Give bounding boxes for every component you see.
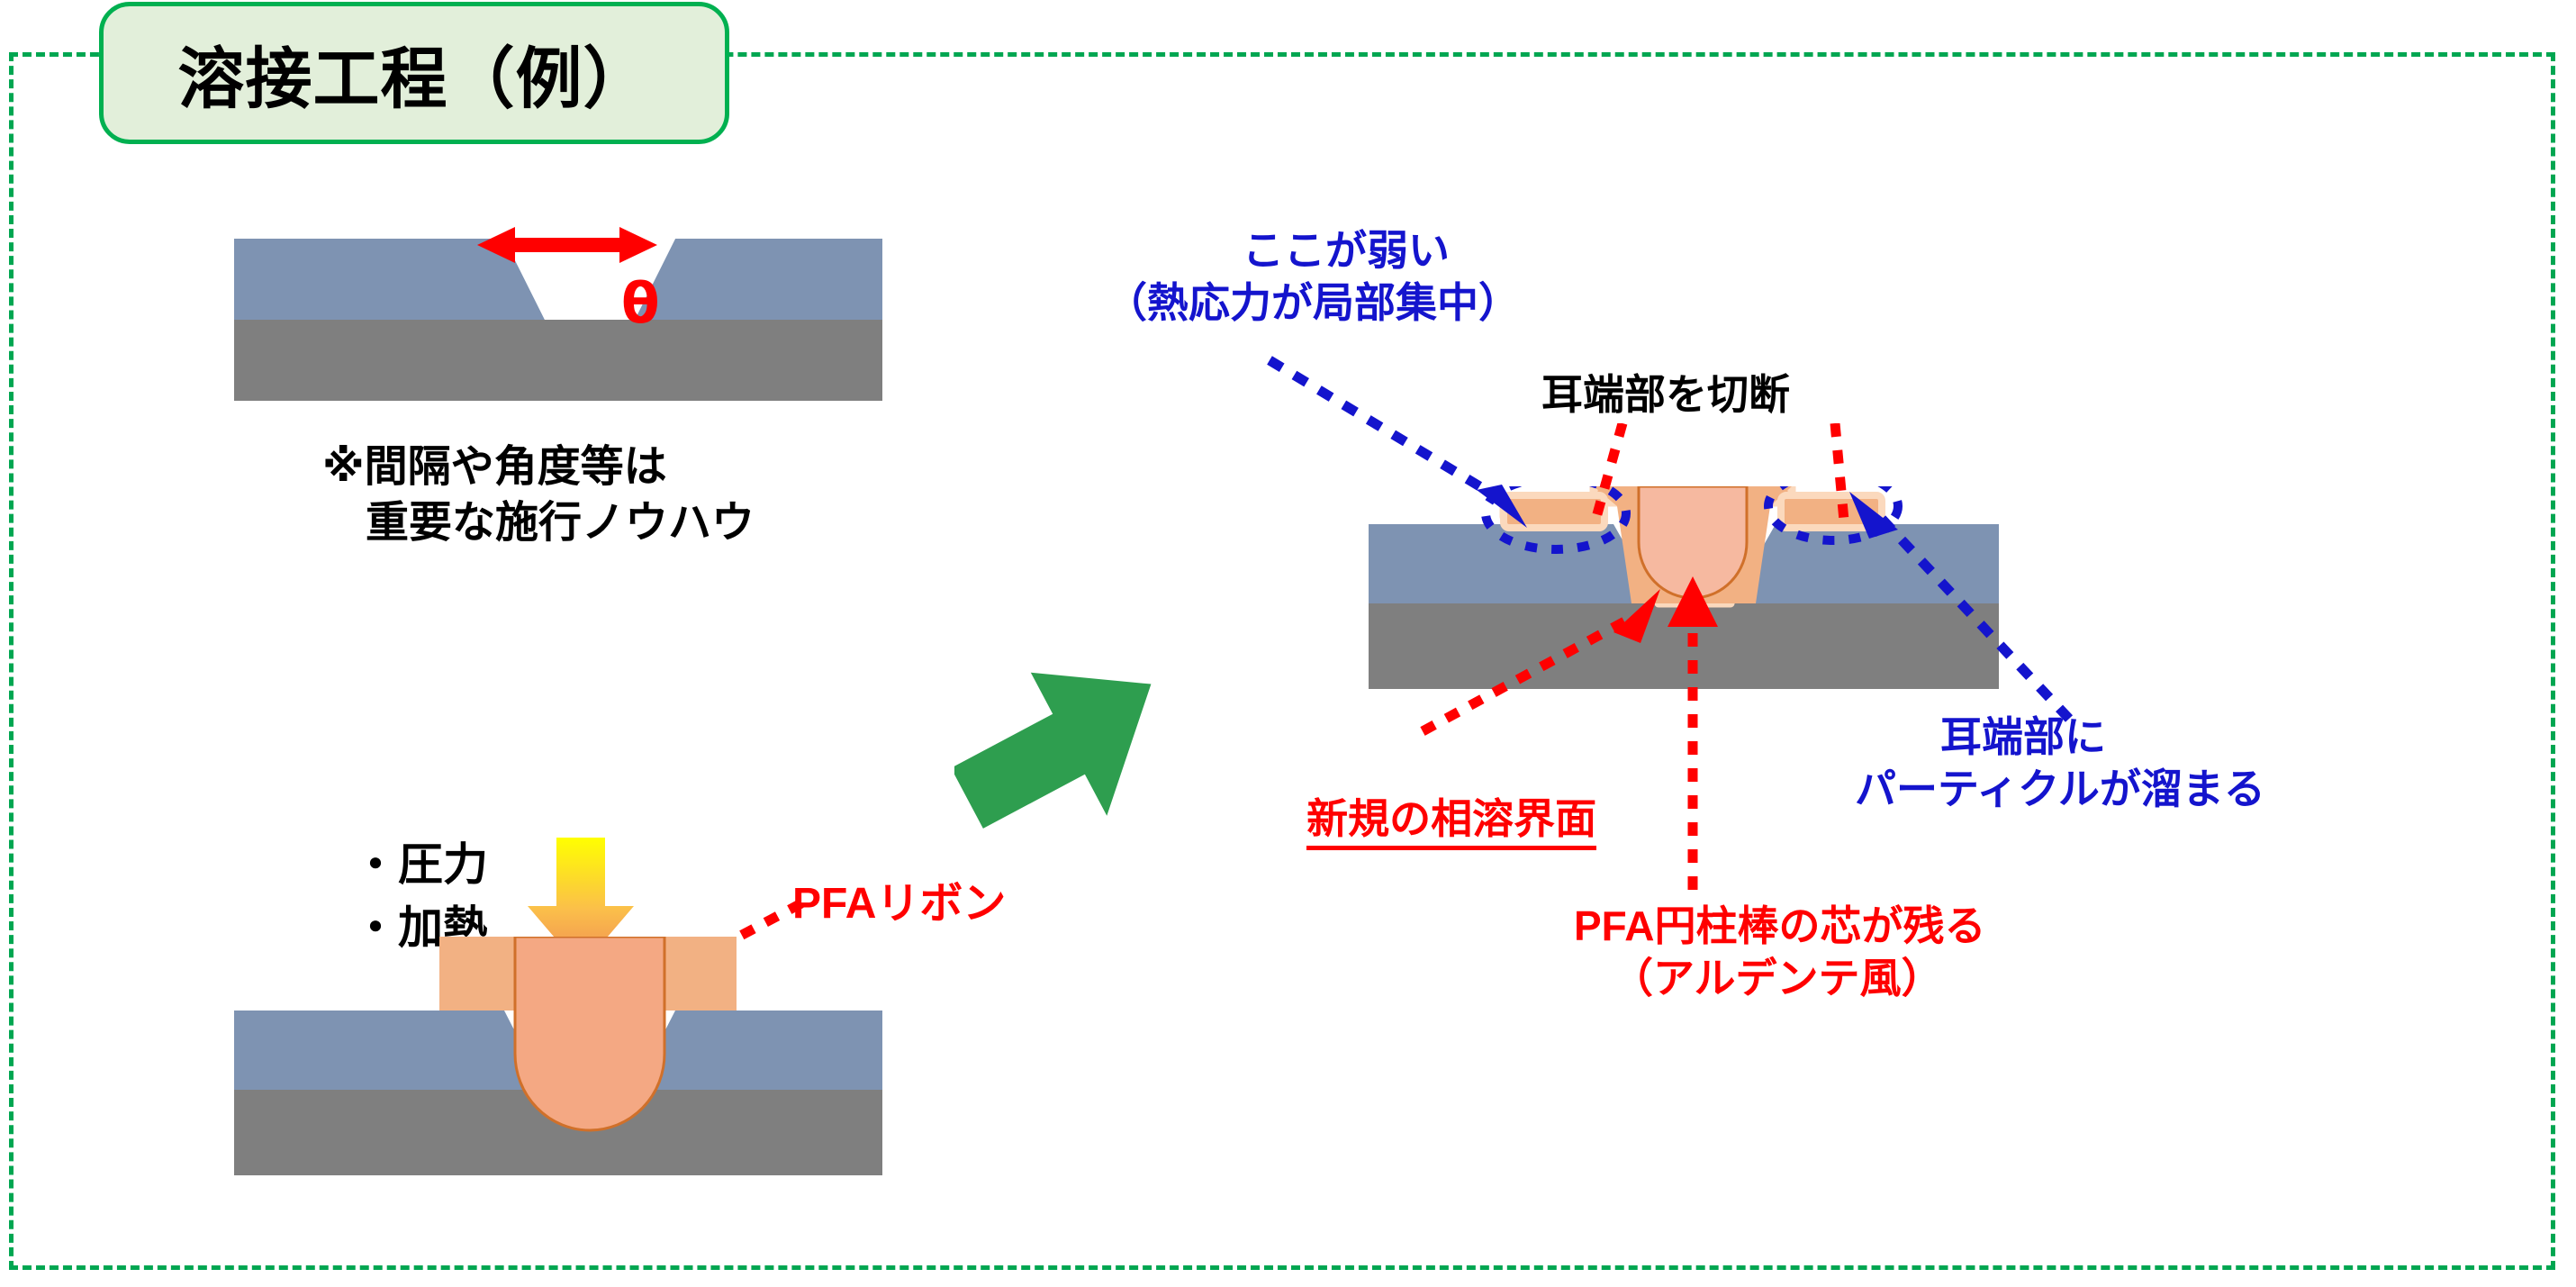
cut-edge-leader-line xyxy=(1585,423,1639,522)
particle-accumulation-label-line2: パーティクルが溜まる xyxy=(1855,764,2265,814)
substrate-lower-layer xyxy=(234,320,882,401)
condition-pressure: ・圧力 xyxy=(353,838,488,893)
theta-angle-label: θ xyxy=(621,270,660,336)
process-flow-arrow xyxy=(954,666,1170,829)
slide-canvas: 溶接工程（例） θ ※間隔や角度等は 重要な施行ノウハウ ・圧力 ・加熱 xyxy=(0,0,2576,1287)
page-title: 溶接工程（例） xyxy=(178,25,651,122)
process-note-line2: 重要な施行ノウハウ xyxy=(322,497,755,550)
groove-width-arrow xyxy=(477,223,657,267)
new-interface-label-text: 新規の相溶界面 xyxy=(1306,793,1596,850)
particle-accumulation-label-line1: 耳端部に xyxy=(1940,711,2106,762)
green-arrow-shape xyxy=(954,666,1170,829)
arrowhead-right xyxy=(619,227,657,263)
core-remains-label-line1: PFA円柱棒の芯が残る xyxy=(1574,901,1985,951)
new-interface-label: 新規の相溶界面 xyxy=(1261,743,1596,901)
ribbon-placement-cross-section xyxy=(234,937,882,1198)
process-note-line1: ※間隔や角度等は xyxy=(322,441,667,494)
pfa-ribbon-label: PFAリボン xyxy=(792,878,1006,931)
arrow-shaft xyxy=(511,238,623,252)
new-interface-leader-arrow xyxy=(1405,576,1675,739)
particle-accumulation-leader-arrow xyxy=(1828,486,2098,730)
core-remains-leader-arrow xyxy=(1666,576,1720,892)
arrowhead-left xyxy=(477,227,515,263)
slide-title-box: 溶接工程（例） xyxy=(99,2,729,144)
cut-edge-label: 耳端部を切断 xyxy=(1541,369,1790,420)
pfa-molten-core xyxy=(515,937,664,1130)
core-remains-label-line2: （アルデンテ風） xyxy=(1612,953,1943,1003)
weak-point-label-line1: ここが弱い xyxy=(1243,225,1450,276)
weak-point-label-line2: （熱応力が局部集中） xyxy=(1106,277,1520,328)
weak-point-leader-arrow xyxy=(1261,351,1567,540)
